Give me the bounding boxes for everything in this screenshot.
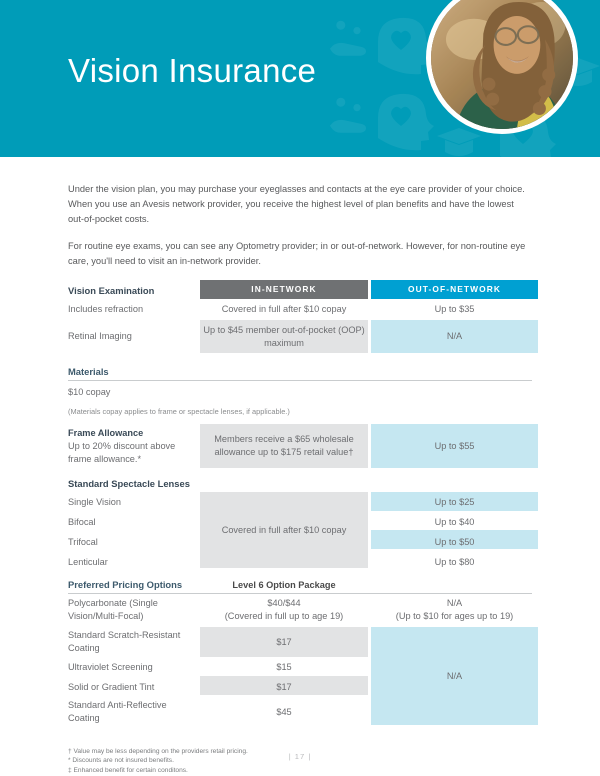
benefits-table: Vision Examination IN-NETWORK OUT-OF-NET… — [68, 280, 532, 725]
column-header-out-of-network: OUT-OF-NETWORK — [371, 280, 538, 299]
page-header: Vision Insurance — [0, 0, 600, 157]
row-label: Polycarbonate (Single Vision/Multi-Focal… — [68, 597, 200, 623]
row-label: Includes refraction — [68, 303, 200, 316]
row-value-in-network-line1: $40/$44 — [200, 597, 368, 610]
row-value-out-of-network-line2: (Up to $10 for ages up to 19) — [371, 610, 538, 623]
materials-copay-note-row: (Materials copay applies to frame or spe… — [68, 401, 532, 421]
row-value-out-of-network: Up to $40 — [371, 516, 538, 529]
merged-value-in-network: Covered in full after $10 copay — [222, 525, 347, 535]
row-value-in-network-line2: (Covered in full up to age 19) — [200, 610, 368, 623]
table-row: Includes refraction Covered in full afte… — [68, 299, 532, 320]
section-header-vision-exam: Vision Examination IN-NETWORK OUT-OF-NET… — [68, 280, 532, 299]
frame-allowance-row: Frame Allowance Up to 20% discount above… — [68, 424, 532, 468]
row-value-in-network: Covered in full after $10 copay — [200, 303, 368, 316]
page-body: Under the vision plan, you may purchase … — [0, 182, 600, 776]
spectacle-lenses-group: Covered in full after $10 copay Single V… — [68, 492, 532, 568]
section-title-materials: Materials — [68, 366, 200, 380]
row-value-out-of-network: Up to $25 — [371, 496, 538, 509]
section-title-spectacle-lenses: Standard Spectacle Lenses — [68, 478, 368, 492]
row-label: Trifocal — [68, 536, 200, 549]
row-value-out-of-network: Up to $55 — [371, 440, 538, 453]
row-value-in-network: $17 — [200, 681, 368, 694]
row-value-in-network: Members receive a $65 wholesale allowanc… — [200, 433, 368, 459]
materials-copay-row: $10 copay — [68, 381, 532, 401]
row-value-in-network: $15 — [200, 661, 368, 674]
materials-copay-note: (Materials copay applies to frame or spe… — [68, 406, 468, 417]
intro-paragraph-2: For routine eye exams, you can see any O… — [68, 239, 532, 269]
row-label: Frame Allowance — [68, 427, 200, 440]
section-header-preferred-pricing: Preferred Pricing Options Level 6 Option… — [68, 574, 532, 593]
row-value-out-of-network-line1: N/A — [371, 597, 538, 610]
column-header-in-network: IN-NETWORK — [200, 280, 368, 299]
row-value-out-of-network: Up to $50 — [371, 536, 538, 549]
row-value-in-network: $45 — [200, 706, 368, 719]
page-number: | 17 | — [0, 752, 600, 761]
row-value-out-of-network: Up to $80 — [371, 556, 538, 569]
table-row: Polycarbonate (Single Vision/Multi-Focal… — [68, 594, 532, 623]
row-label: Standard Anti-Reflective Coating — [68, 699, 200, 725]
row-sublabel: Up to 20% discount above frame allowance… — [68, 440, 200, 466]
row-label: Solid or Gradient Tint — [68, 681, 200, 694]
page-title: Vision Insurance — [68, 52, 316, 90]
row-value-in-network: Up to $45 member out-of-pocket (OOP) max… — [200, 324, 368, 350]
row-value-out-of-network: Up to $35 — [371, 303, 538, 316]
intro-text: Under the vision plan, you may purchase … — [68, 182, 532, 269]
row-label: Ultraviolet Screening — [68, 661, 200, 674]
row-label: Retinal Imaging — [68, 330, 200, 343]
intro-paragraph-1: Under the vision plan, you may purchase … — [68, 182, 532, 228]
section-header-materials: Materials — [68, 360, 532, 380]
preferred-pricing-group: N/A Standard Scratch-Resistant Coating $… — [68, 627, 532, 725]
row-value-in-network: $17 — [200, 636, 368, 649]
row-label: Standard Scratch-Resistant Coating — [68, 629, 200, 655]
page: Vision Insurance — [0, 0, 600, 776]
row-value-out-of-network: N/A — [371, 330, 538, 343]
row-label: Bifocal — [68, 516, 200, 529]
section-header-spectacle-lenses: Standard Spectacle Lenses — [68, 473, 532, 492]
footnote-item: ‡ Enhanced benefit for certain conditons… — [68, 766, 532, 775]
section-title-vision-exam: Vision Examination — [68, 285, 200, 299]
materials-copay: $10 copay — [68, 386, 368, 399]
merged-value-out-of-network: N/A — [447, 671, 462, 681]
table-row: Retinal Imaging Up to $45 member out-of-… — [68, 320, 532, 353]
hero-photo — [426, 0, 578, 134]
section-title-preferred-pricing: Preferred Pricing Options — [68, 579, 200, 593]
row-label: Lenticular — [68, 556, 200, 569]
column-header-level-package: Level 6 Option Package — [200, 580, 368, 593]
row-label: Single Vision — [68, 496, 200, 509]
